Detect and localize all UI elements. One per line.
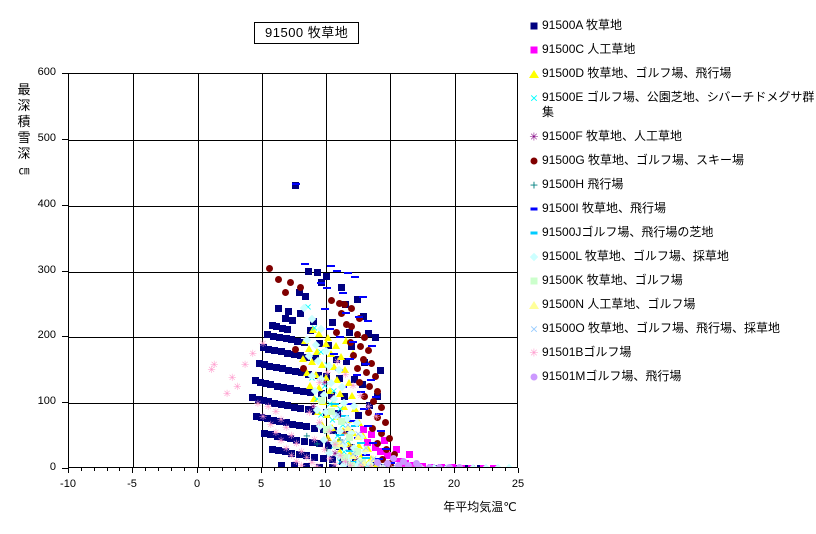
x-tick-label: -5	[112, 478, 152, 490]
dash-marker-icon	[526, 225, 542, 240]
scatter-point	[282, 315, 289, 322]
legend-item-91501m[interactable]: 91501Mゴルフ場、飛行場	[526, 369, 816, 384]
legend-item-label: 91500L 牧草地、ゴルフ場、採草地	[542, 249, 816, 264]
x-tick-mark	[197, 468, 198, 473]
scatter-point	[362, 363, 370, 365]
scatter-point: ✳	[349, 382, 357, 392]
scatter-point	[317, 282, 325, 284]
scatter-point: ✳	[297, 462, 305, 468]
scatter-point	[275, 305, 282, 312]
gridline-vertical	[133, 74, 134, 467]
x-tick-label: 10	[305, 478, 345, 490]
gridline-vertical	[198, 74, 199, 467]
cross-marker-icon: ×	[526, 90, 542, 105]
scatter-point	[297, 405, 304, 412]
x-tick-mark-minor	[119, 468, 120, 471]
legend-item-label: 91500E ゴルフ場、公園芝地、シバーチドメグサ群集	[542, 90, 816, 120]
legend-item-label: 91500Jゴルフ場、飛行場の芝地	[542, 225, 816, 240]
scatter-point: ✳	[357, 392, 365, 402]
scatter-point	[368, 345, 376, 347]
x-tick-mark-minor	[248, 468, 249, 471]
scatter-point: ✳	[233, 383, 241, 393]
scatter-point: ✳	[310, 436, 318, 446]
scatter-point	[284, 326, 291, 333]
plus-marker-icon: +	[526, 177, 542, 192]
scatter-point	[303, 423, 310, 430]
legend-item-91500a[interactable]: 91500A 牧草地	[526, 18, 816, 33]
scatter-point	[361, 334, 368, 341]
triangle-marker-icon	[526, 297, 542, 312]
scatter-point	[348, 323, 355, 330]
scatter-point	[446, 464, 453, 468]
circle-marker-icon	[526, 153, 542, 168]
x-tick-label: 25	[498, 478, 538, 490]
scatter-point: ✳	[249, 350, 257, 360]
scatter-point	[331, 403, 339, 405]
scatter-point: ✳	[259, 340, 267, 350]
scatter-point	[296, 422, 303, 429]
y-axis-title-text: 最深積雪深	[17, 82, 30, 161]
scatter-point: ×	[362, 444, 370, 454]
x-tick-mark-minor	[492, 468, 493, 471]
chart-title: 91500 牧草地	[254, 22, 359, 44]
scatter-point	[314, 269, 321, 276]
scatter-point	[349, 341, 357, 343]
legend-item-91500o[interactable]: ×91500O 牧草地、ゴルフ場、飛行場、採草地	[526, 321, 816, 336]
scatter-point	[302, 293, 309, 300]
x-tick-mark-minor	[364, 468, 365, 471]
legend-item-91500l[interactable]: 91500L 牧草地、ゴルフ場、採草地	[526, 249, 816, 264]
scatter-point	[354, 331, 361, 338]
scatter-point	[318, 397, 325, 404]
scatter-point	[332, 342, 340, 349]
legend-item-91500h[interactable]: +91500H 飛行場	[526, 177, 816, 192]
y-tick-label: 300	[22, 265, 56, 276]
x-tick-mark-minor	[467, 468, 468, 471]
legend-item-91501b[interactable]: ✳91501Bゴルフ場	[526, 345, 816, 360]
scatter-point	[321, 308, 329, 310]
scatter-point	[301, 263, 309, 265]
scatter-point: ✳	[333, 358, 341, 368]
scatter-point	[377, 430, 385, 432]
scatter-point: ✳	[372, 413, 380, 423]
scatter-point: ✳	[254, 400, 262, 410]
scatter-point: ✳	[315, 419, 323, 429]
scatter-point	[365, 347, 372, 354]
gridline-horizontal	[69, 272, 517, 273]
gridline-horizontal	[69, 140, 517, 141]
gridline-vertical	[455, 74, 456, 467]
legend-item-label: 91500N 人工草地、ゴルフ場	[542, 297, 816, 312]
x-tick-label: 0	[177, 478, 217, 490]
scatter-point	[354, 365, 361, 372]
scatter-point: ×	[339, 438, 347, 448]
scatter-point	[426, 464, 433, 468]
x-tick-mark-minor	[107, 468, 108, 471]
scatter-point: ✳	[341, 371, 349, 381]
scatter-point	[386, 435, 393, 442]
scatter-point	[297, 284, 304, 291]
scatter-point: ✳	[313, 463, 321, 468]
scatter-point	[330, 353, 338, 355]
scatter-point	[292, 183, 300, 185]
y-tick-label: 100	[22, 396, 56, 407]
x-tick-mark-minor	[184, 468, 185, 471]
x-tick-mark-minor	[312, 468, 313, 471]
scatter-point	[372, 396, 380, 398]
scatter-point: ✳	[315, 379, 323, 389]
legend-item-label: 91501Mゴルフ場、飛行場	[542, 369, 816, 384]
y-tick-label: 200	[22, 330, 56, 341]
legend-item-label: 91500G 牧草地、ゴルフ場、スキー場	[542, 153, 816, 168]
x-tick-mark-minor	[479, 468, 480, 471]
scatter-point	[348, 392, 356, 399]
scatter-point: ✳	[331, 441, 339, 451]
scatter-point	[292, 346, 299, 353]
scatter-point	[278, 462, 285, 468]
gridline-horizontal	[69, 206, 517, 207]
scatter-point	[326, 328, 334, 330]
legend-item-91500i[interactable]: 91500I 牧草地、飛行場	[526, 201, 816, 216]
legend-item-label: 91500K 牧草地、ゴルフ場	[542, 273, 816, 288]
scatter-point: ✳	[357, 463, 365, 468]
square-marker-icon	[526, 42, 542, 57]
scatter-point	[372, 334, 379, 341]
scatter-point: ✳	[223, 390, 231, 400]
scatter-point	[406, 451, 413, 458]
gridline-vertical	[390, 74, 391, 467]
scatter-point	[367, 379, 375, 381]
x-tick-mark-minor	[351, 468, 352, 471]
scatter-point	[305, 268, 312, 275]
diamond-marker-icon	[526, 249, 542, 264]
scatter-point	[355, 316, 363, 318]
legend-item-91500n[interactable]: 91500N 人工草地、ゴルフ場	[526, 297, 816, 312]
scatter-point	[285, 308, 292, 315]
scatter-point: ✳	[331, 461, 339, 468]
y-axis-title: 最深積雪深 ㎝	[14, 82, 34, 179]
scatter-point	[382, 419, 389, 426]
square-marker-icon	[526, 273, 542, 288]
legend-item-91500e[interactable]: ×91500E ゴルフ場、公園芝地、シバーチドメグサ群集	[526, 90, 816, 120]
legend-item-label: 91500D 牧草地、ゴルフ場、飛行場	[542, 66, 816, 81]
scatter-point	[378, 404, 385, 411]
x-tick-mark-minor	[377, 468, 378, 471]
scatter-point	[494, 464, 502, 468]
scatter-point	[369, 442, 377, 444]
legend-item-91500f[interactable]: ✳91500F 牧草地、人工草地	[526, 129, 816, 144]
gridline-vertical	[262, 74, 263, 467]
scatter-point	[327, 265, 335, 267]
legend-item-label: 91500I 牧草地、飛行場	[542, 201, 816, 216]
scatter-point	[333, 329, 340, 336]
scatter-point	[359, 296, 367, 298]
y-tick-label: 400	[22, 199, 56, 210]
scatter-point	[289, 317, 296, 324]
x-tick-mark-minor	[171, 468, 172, 471]
x-tick-mark	[68, 468, 69, 473]
circle-marker-icon	[526, 369, 542, 384]
y-axis-unit: ㎝	[19, 165, 30, 177]
scatter-point	[348, 305, 355, 312]
scatter-point	[374, 388, 381, 395]
x-tick-mark-minor	[505, 468, 506, 471]
x-tick-label: 20	[434, 478, 474, 490]
legend-item-label: 91500H 飛行場	[542, 177, 816, 192]
x-tick-mark-minor	[222, 468, 223, 471]
x-tick-label: 15	[369, 478, 409, 490]
x-tick-mark	[261, 468, 262, 473]
scatter-point	[344, 272, 352, 274]
triangle-marker-icon	[526, 66, 542, 81]
scatter-point	[382, 448, 390, 450]
scatter-point	[357, 343, 364, 350]
scatter-point	[300, 365, 307, 372]
legend-item-label: 91500O 牧草地、ゴルフ場、飛行場、採草地	[542, 321, 816, 336]
legend-item-91500k[interactable]: 91500K 牧草地、ゴルフ場	[526, 273, 816, 288]
scatter-point: ×	[354, 430, 362, 440]
scatter-point	[377, 367, 384, 374]
scatter-point	[339, 292, 347, 294]
scatter-point	[300, 388, 307, 395]
x-tick-mark-minor	[209, 468, 210, 471]
x-tick-mark-minor	[235, 468, 236, 471]
x-tick-mark-minor	[274, 468, 275, 471]
x-tick-mark-minor	[94, 468, 95, 471]
x-tick-mark	[389, 468, 390, 473]
scatter-point	[366, 383, 373, 390]
x-axis-title: 年平均気温℃	[400, 500, 560, 514]
legend-item-label: 91500A 牧草地	[542, 18, 816, 33]
x-tick-mark-minor	[441, 468, 442, 471]
scatter-point	[338, 284, 345, 291]
x-tick-mark-minor	[299, 468, 300, 471]
plot-area: ××××××××××××××××××××××✳✳✳✳✳✳✳✳✳✳✳✳++++++…	[68, 73, 518, 468]
scatter-point	[282, 289, 289, 296]
scatter-point	[351, 276, 359, 278]
scatter-point: ×	[333, 411, 341, 421]
x-tick-mark	[454, 468, 455, 473]
x-tick-label: -10	[48, 478, 88, 490]
cross-marker-icon: ×	[526, 321, 542, 336]
asterisk-marker-icon: ✳	[526, 345, 542, 360]
square-marker-icon	[526, 18, 542, 33]
asterisk-marker-icon: ✳	[526, 129, 542, 144]
scatter-point: ✳	[326, 428, 334, 438]
scatter-point	[400, 458, 407, 465]
scatter-point	[368, 431, 375, 438]
legend-item-label: 91500F 牧草地、人工草地	[542, 129, 816, 144]
y-tick-label: 600	[22, 67, 56, 78]
scatter-point	[287, 279, 294, 286]
scatter-point	[364, 425, 372, 427]
x-tick-mark-minor	[81, 468, 82, 471]
x-tick-mark	[518, 468, 519, 473]
scatter-point: ✳	[305, 409, 313, 419]
x-tick-mark-minor	[287, 468, 288, 471]
scatter-point: ✳	[323, 369, 331, 379]
scatter-point	[333, 270, 341, 272]
scatter-point	[390, 455, 397, 462]
scatter-point	[275, 276, 282, 283]
x-tick-mark-minor	[145, 468, 146, 471]
y-tick-label: 0	[22, 462, 56, 473]
scatter-point: ×	[344, 421, 352, 431]
scatter-point	[355, 412, 362, 419]
x-tick-label: 5	[241, 478, 281, 490]
scatter-point	[363, 369, 370, 376]
scatter-point	[323, 287, 331, 289]
scatter-point	[456, 464, 463, 468]
scatter-point	[504, 464, 512, 468]
legend-item-91500c[interactable]: 91500C 人工草地	[526, 42, 816, 57]
scatter-point: ✳	[207, 366, 215, 376]
legend-item-91500j[interactable]: 91500Jゴルフ場、飛行場の芝地	[526, 225, 816, 240]
scatter-point	[436, 464, 443, 468]
scatter-point	[342, 312, 350, 314]
y-tick-label: 500	[22, 133, 56, 144]
scatter-point	[346, 358, 354, 360]
scatter-point	[322, 340, 330, 347]
scatter-point: ✳	[364, 403, 372, 413]
x-tick-mark-minor	[158, 468, 159, 471]
scatter-point: ✳	[346, 462, 354, 468]
dash-marker-icon	[526, 201, 542, 216]
scatter-point	[374, 459, 381, 466]
scatter-point	[329, 319, 336, 326]
x-tick-mark-minor	[415, 468, 416, 471]
scatter-point	[328, 297, 335, 304]
scatter-point	[353, 374, 361, 376]
x-tick-mark-minor	[338, 468, 339, 471]
x-tick-mark-minor	[402, 468, 403, 471]
legend-item-label: 91501Bゴルフ場	[542, 345, 816, 360]
x-tick-mark-minor	[428, 468, 429, 471]
legend-item-91500g[interactable]: 91500G 牧草地、ゴルフ場、スキー場	[526, 153, 816, 168]
legend-item-91500d[interactable]: 91500D 牧草地、ゴルフ場、飛行場	[526, 66, 816, 81]
scatter-point	[364, 320, 372, 322]
scatter-point: ✳	[241, 361, 249, 371]
x-tick-mark	[325, 468, 326, 473]
x-tick-mark	[132, 468, 133, 473]
legend-item-label: 91500C 人工草地	[542, 42, 816, 57]
scatter-point	[336, 336, 344, 338]
scatter-point	[341, 301, 348, 308]
legend: 91500A 牧草地91500C 人工草地91500D 牧草地、ゴルフ場、飛行場…	[526, 18, 816, 393]
scatter-point	[413, 460, 420, 467]
